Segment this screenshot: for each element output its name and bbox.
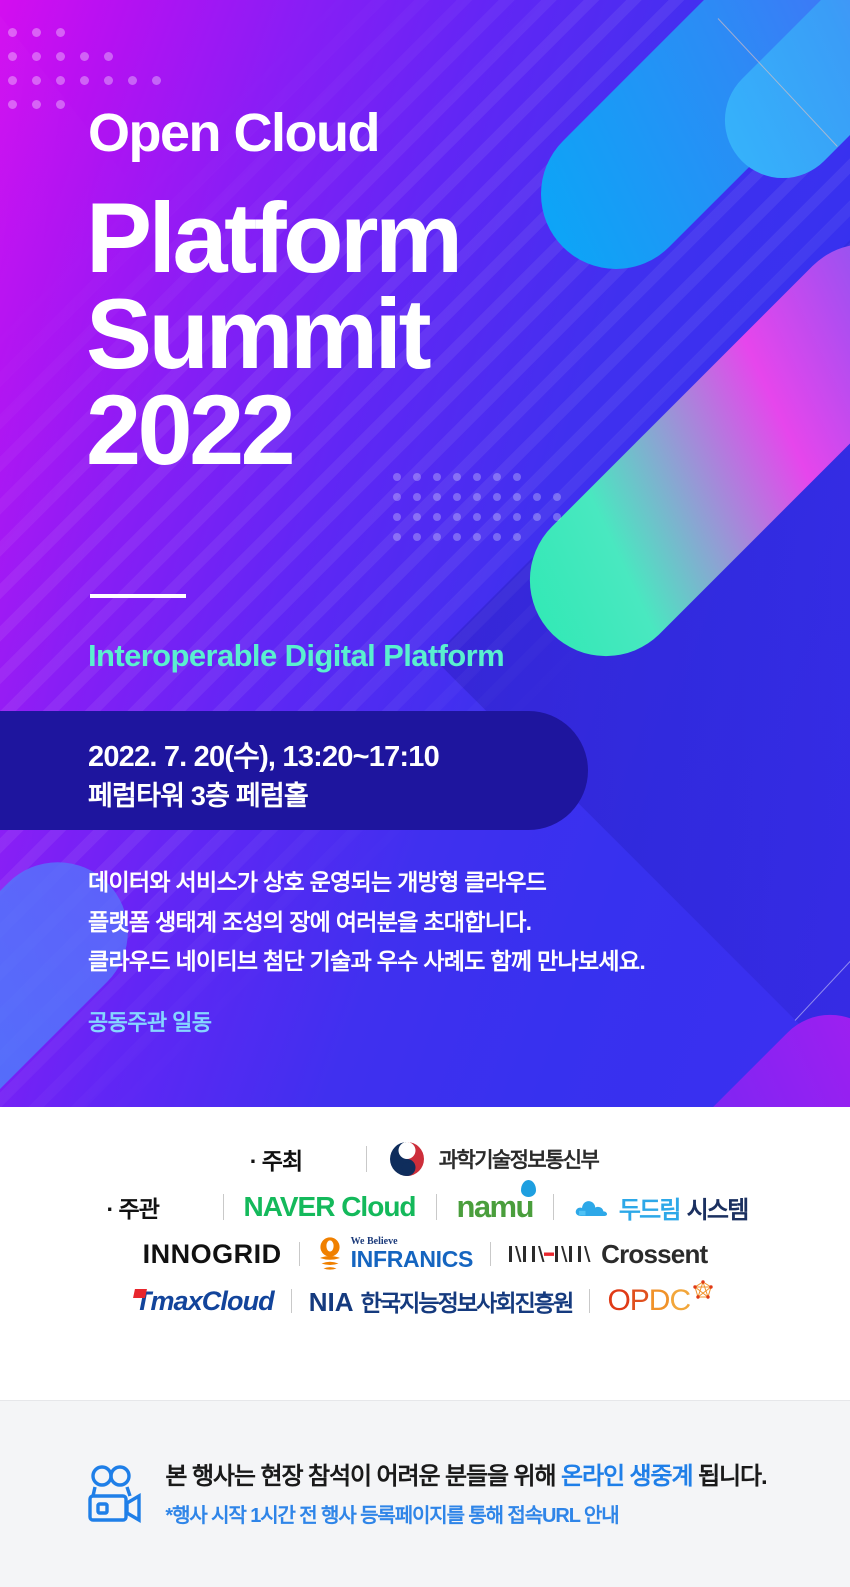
- sponsor-row-host: · 주최 과학기술정보통신부: [0, 1135, 850, 1183]
- crossent-wordmark: Crossent: [601, 1239, 707, 1270]
- separator: [589, 1289, 590, 1313]
- event-date: 2022. 7. 20(수), 13:20~17:10: [88, 733, 439, 775]
- video-camera-icon: [83, 1463, 145, 1525]
- organizer-label: · 주관: [99, 1190, 203, 1224]
- opdc-wordmark: OPDC: [607, 1284, 690, 1318]
- sponsor-logo-nia[interactable]: NIA 한국지능정보사회진흥원: [309, 1284, 573, 1318]
- system-text: 시스템: [687, 1190, 748, 1225]
- notice-secondary-line: *행사 시작 1시간 전 행사 등록페이지를 통해 접속URL 안내: [165, 1499, 766, 1528]
- sponsor-row-organizers-2: INNOGRID We Believe INFRANICS: [0, 1231, 850, 1277]
- eyebrow-title: Open Cloud: [88, 106, 379, 160]
- sponsor-logo-opdc[interactable]: OPDC: [607, 1284, 715, 1318]
- sponsor-logo-tmaxcloud[interactable]: TmaxCloud: [135, 1286, 274, 1317]
- event-poster: Open Cloud Platform Summit 2022 Interope…: [0, 0, 850, 1587]
- tmax-accent-icon: [133, 1289, 147, 1298]
- nia-full-name: 한국지능정보사회진흥원: [361, 1284, 573, 1318]
- notice-primary-line: 본 행사는 현장 참석이 어려운 분들을 위해 온라인 생중계 됩니다.: [165, 1456, 766, 1491]
- nhn-mark-icon: [508, 1243, 592, 1265]
- sponsor-logo-nhn-crossent[interactable]: Crossent: [508, 1239, 707, 1270]
- separator: [553, 1194, 554, 1220]
- event-description: 데이터와 서비스가 상호 운영되는 개방형 클라우드 플랫폼 생태계 조성의 장…: [88, 863, 645, 982]
- dudream-cloud-icon: [574, 1195, 612, 1219]
- separator: [299, 1242, 300, 1266]
- notice-text-b: 됩니다.: [693, 1463, 767, 1490]
- sponsor-logo-msit[interactable]: 과학기술정보통신부: [387, 1139, 598, 1179]
- opdc-letter-d: D: [649, 1284, 670, 1317]
- notice-highlight: 온라인 생중계: [561, 1463, 692, 1490]
- sponsor-row-organizers-1: · 주관 NAVER Cloud namu 두드림시스템: [0, 1183, 850, 1231]
- separator: [223, 1194, 224, 1220]
- hero-section: Open Cloud Platform Summit 2022 Interope…: [0, 0, 850, 1107]
- msit-name: 과학기술정보통신부: [439, 1144, 598, 1174]
- sponsor-logo-innogrid[interactable]: INNOGRID: [143, 1239, 282, 1270]
- separator: [366, 1146, 367, 1172]
- tmaxcloud-wordmark: TmaxCloud: [135, 1286, 274, 1316]
- event-venue: 페럼타워 3층 페럼홀: [88, 774, 308, 813]
- purple-capsule-decoration: [625, 990, 850, 1107]
- sponsor-row-organizers-3: TmaxCloud NIA 한국지능정보사회진흥원 OPDC: [0, 1277, 850, 1325]
- divider-rule: [90, 594, 186, 598]
- description-line-3: 클라우드 네이티브 첨단 기술과 우수 사례도 함께 만나보세요.: [88, 942, 645, 982]
- opdc-letter-o: O: [607, 1284, 629, 1317]
- sponsor-logo-namu[interactable]: namu: [457, 1189, 533, 1225]
- date-venue-banner: 2022. 7. 20(수), 13:20~17:10 페럼타워 3층 페럼홀: [0, 711, 588, 830]
- sponsor-logo-naver-cloud[interactable]: NAVER Cloud: [244, 1191, 416, 1223]
- page-title: Platform Summit 2022: [86, 190, 706, 478]
- title-line-2: Summit: [86, 286, 706, 382]
- thin-diagonal-line-bottom: [795, 925, 850, 1021]
- opdc-letter-p: P: [630, 1284, 649, 1317]
- subtitle: Interoperable Digital Platform: [88, 638, 504, 674]
- opdc-network-icon: [691, 1279, 715, 1303]
- separator: [291, 1289, 292, 1313]
- co-host-note: 공동주관 일동: [88, 1005, 211, 1037]
- infranics-icon: [317, 1237, 343, 1271]
- title-line-1: Platform: [86, 190, 706, 286]
- description-line-1: 데이터와 서비스가 상호 운영되는 개방형 클라우드: [88, 863, 645, 903]
- separator: [436, 1194, 437, 1220]
- title-line-3: 2022: [86, 382, 706, 478]
- taegeuk-icon: [387, 1139, 427, 1179]
- notice-text-a: 본 행사는 현장 참석이 어려운 분들을 위해: [165, 1463, 561, 1490]
- sponsor-logo-dudream-system[interactable]: 두드림시스템: [574, 1190, 748, 1225]
- sponsor-logo-infranics[interactable]: We Believe INFRANICS: [317, 1237, 474, 1271]
- namu-dot-icon: [521, 1180, 536, 1197]
- dudream-text: 두드림: [619, 1190, 680, 1225]
- namu-wordmark: namu: [457, 1189, 533, 1224]
- description-line-2: 플랫폼 생태계 조성의 장에 여러분을 초대합니다.: [88, 903, 645, 943]
- nia-abbr: NIA: [309, 1287, 354, 1318]
- host-label: · 주최: [242, 1142, 346, 1176]
- opdc-letter-c: C: [669, 1284, 690, 1317]
- sponsors-section: · 주최 과학기술정보통신부 · 주관 NAVER Cloud nam: [0, 1107, 850, 1400]
- dot-grid-middle: [393, 473, 573, 553]
- infranics-wordmark: INFRANICS: [351, 1248, 474, 1271]
- separator: [490, 1242, 491, 1266]
- online-streaming-notice: 본 행사는 현장 참석이 어려운 분들을 위해 온라인 생중계 됩니다. *행사…: [0, 1400, 850, 1587]
